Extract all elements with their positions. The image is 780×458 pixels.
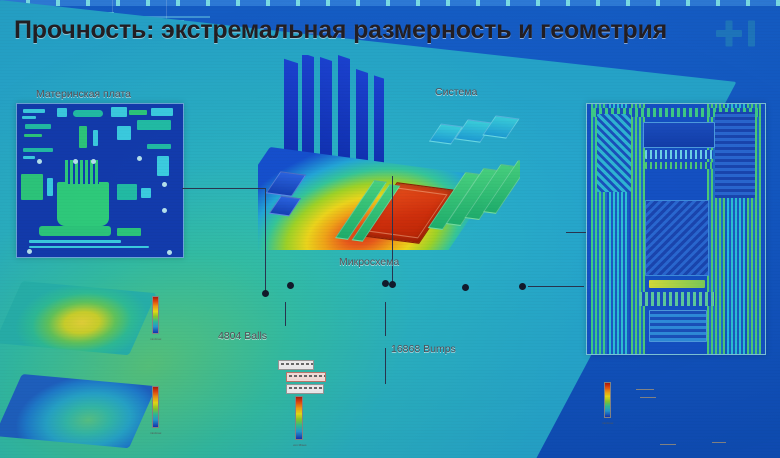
legend-package-plate: min/max xyxy=(604,382,609,416)
caption-motherboard: Материнская плата xyxy=(36,88,131,100)
caption-system: Система xyxy=(435,86,477,98)
motherboard-thermal-map xyxy=(16,103,184,258)
die-layout-map xyxy=(586,103,766,355)
ball-annotation-2 xyxy=(286,372,326,382)
warpage-surface-upper xyxy=(22,281,162,343)
system-heatsink-3d xyxy=(258,55,520,250)
warpage-surface-lower xyxy=(22,374,162,436)
caption-microchip: Микросхема xyxy=(339,256,399,268)
ball-annotation-1 xyxy=(278,360,314,370)
page-title: Прочность: экстремальная размерность и г… xyxy=(14,16,704,50)
legend-warpage-lower: min/max xyxy=(152,386,157,426)
caption-balls: 4804 Balls xyxy=(218,330,267,342)
presentation-slide: Прочность: экстремальная размерность и г… xyxy=(0,0,780,458)
caption-bumps: 16868 Bumps xyxy=(391,343,456,355)
legend-warpage-upper: min/max xyxy=(152,296,157,332)
legend-ball-array: von Mises xyxy=(295,396,301,438)
ball-annotation-3 xyxy=(286,384,324,394)
brand-logo xyxy=(706,16,766,50)
